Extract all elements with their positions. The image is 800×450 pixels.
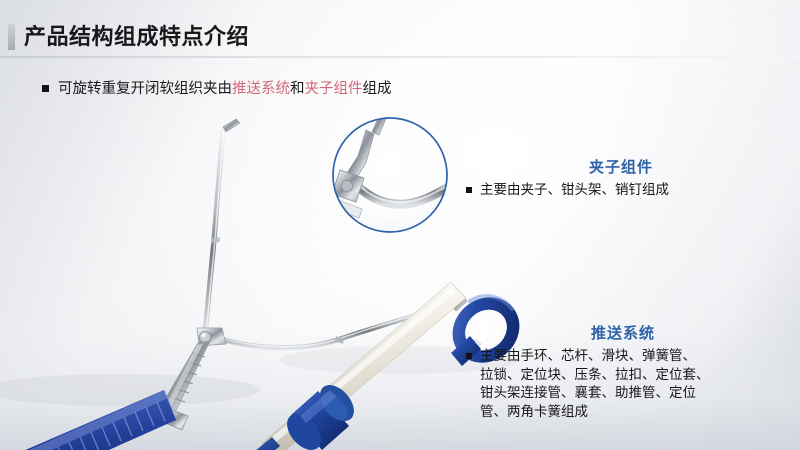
lead-text-highlight2: 夹子组件 [305, 81, 363, 97]
page-title: 产品结构组成特点介绍 [24, 19, 249, 51]
lead-text-part1: 可旋转重复开闭软组织夹由 [58, 81, 232, 97]
lead-text-part3: 组成 [363, 81, 392, 97]
callout-delivery-line-3: 钳头架连接管、襄套、助推管、定位 [480, 385, 696, 400]
lead-text-part2: 和 [290, 81, 305, 97]
callout-delivery-body: 主要由手环、芯杆、滑块、弹簧管、 拉锁、定位块、压条、拉扣、定位套、 钳头架连接… [480, 347, 750, 421]
slide-canvas: 产品结构组成特点介绍 [0, 0, 800, 450]
callout-delivery-line-2: 拉锁、定位块、压条、拉扣、定位套、 [480, 367, 710, 382]
callout-clip-assembly: 夹子组件 主要由夹子、钳头架、销钉组成 [466, 156, 786, 200]
callout-delivery-heading: 推送系统 [508, 322, 738, 343]
callout-clip-bullet-row: 主要由夹子、钳头架、销钉组成 [466, 181, 786, 200]
square-bullet-icon [466, 353, 472, 359]
title-accent-bar [8, 24, 15, 50]
callout-delivery-line-1: 主要由手环、芯杆、滑块、弹簧管、 [480, 348, 696, 363]
lead-bullet: 可旋转重复开闭软组织夹由推送系统和夹子组件组成 [42, 79, 512, 99]
square-bullet-icon [466, 187, 472, 193]
lead-bullet-text: 可旋转重复开闭软组织夹由推送系统和夹子组件组成 [58, 79, 392, 99]
callout-delivery-bullet-row: 主要由手环、芯杆、滑块、弹簧管、 拉锁、定位块、压条、拉扣、定位套、 钳头架连接… [466, 347, 796, 421]
callout-delivery-line-4: 管、两角卡簧组成 [480, 404, 588, 419]
callout-clip-body: 主要由夹子、钳头架、销钉组成 [480, 181, 669, 200]
square-bullet-icon [42, 85, 49, 92]
lead-text-highlight1: 推送系统 [232, 81, 290, 97]
title-divider [0, 56, 800, 58]
callout-delivery-system: 推送系统 主要由手环、芯杆、滑块、弹簧管、 拉锁、定位块、压条、拉扣、定位套、 … [466, 322, 796, 421]
callout-clip-heading: 夹子组件 [526, 156, 716, 177]
